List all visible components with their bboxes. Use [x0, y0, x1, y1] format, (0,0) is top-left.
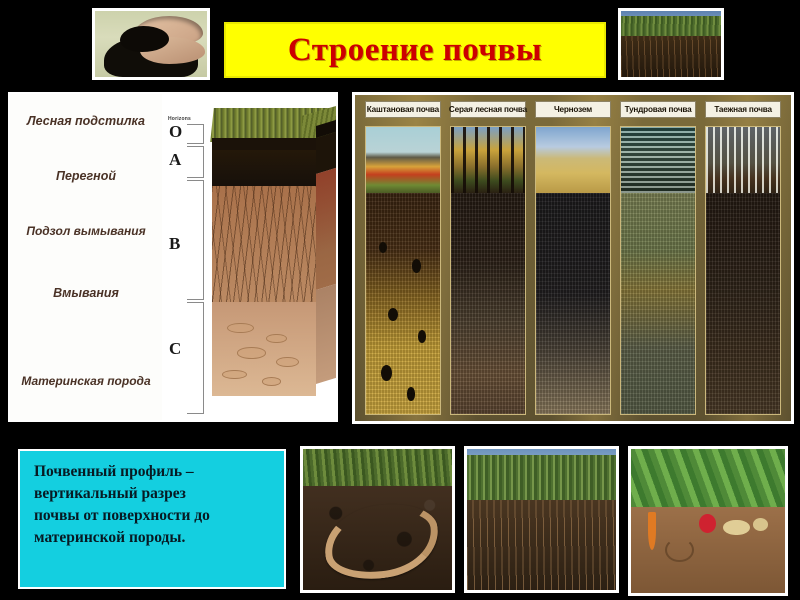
horizon-label-parent-rock: Материнская порода — [10, 374, 162, 388]
potato — [723, 520, 749, 536]
soil-type-label: Серая лесная почва — [450, 101, 526, 118]
horizon-letter-o: O — [169, 122, 182, 142]
slide-root: Строение почвы Лесная подстилка Перегной… — [0, 0, 800, 600]
pebble — [381, 365, 392, 380]
soil-layers — [621, 193, 695, 414]
soil-type-label: Тундровая почва — [620, 101, 696, 118]
soil-types-panel: Каштановая почва Серая лесная почва — [352, 92, 794, 424]
soil-block-front-face — [212, 138, 316, 396]
roots — [467, 500, 616, 590]
horizon-letter-a: A — [169, 150, 181, 170]
top-row: Строение почвы — [0, 6, 800, 82]
c-horizon-layer — [212, 302, 316, 396]
side-red-streak — [316, 166, 338, 254]
vegetable-garden-cross-section-illustration — [628, 446, 788, 596]
soil-texture — [621, 193, 695, 414]
horizon-label-humus: Перегной — [10, 169, 162, 183]
pebble — [412, 259, 422, 272]
landscape-scene-wheat-field — [536, 127, 610, 193]
bracket-b — [187, 180, 204, 300]
horizon-label-column: Лесная подстилка Перегной Подзол вымыван… — [10, 94, 163, 420]
grass-roots-soil-photo — [618, 8, 724, 80]
soil-types-row: Каштановая почва Серая лесная почва — [361, 101, 785, 415]
roots — [621, 36, 721, 77]
stone — [222, 370, 247, 380]
soil-type-label: Таежная почва — [705, 101, 781, 118]
stone — [276, 357, 299, 367]
horizon-letter-b: B — [169, 234, 180, 254]
litter-layer — [212, 138, 316, 150]
soil-profile-strip — [705, 126, 781, 415]
stone — [262, 377, 281, 386]
soil-texture — [536, 193, 610, 414]
soil-type-chernozem[interactable]: Чернозем — [535, 101, 611, 415]
carrot — [648, 512, 656, 549]
potato — [753, 518, 768, 531]
soil-layers — [536, 193, 610, 414]
horizon-label-forest-litter: Лесная подстилка — [10, 114, 162, 128]
soil-profile-diagram: Лесная подстилка Перегной Подзол вымыван… — [8, 92, 338, 422]
definition-line-1: Почвенный профиль – — [34, 461, 274, 483]
soil-profile-strip — [365, 126, 441, 415]
horizon-letter-c: C — [169, 339, 181, 359]
stone — [266, 334, 287, 344]
landscape-scene-taiga — [706, 127, 780, 193]
page-title: Строение почвы — [288, 32, 542, 69]
root-network — [212, 186, 316, 302]
landscape-scene-forest — [451, 127, 525, 193]
soil-clump — [120, 26, 169, 52]
earthworm — [665, 538, 694, 562]
pebble — [407, 387, 416, 400]
soil-block-side-face — [316, 118, 338, 384]
soil-texture — [706, 193, 780, 414]
soil-type-label: Чернозем — [535, 101, 611, 118]
foliage — [631, 449, 785, 509]
radish — [699, 514, 716, 533]
bracket-o — [187, 124, 204, 144]
soil-layers — [706, 193, 780, 414]
horizon-label-illuvial: Вмывания — [10, 286, 162, 300]
soil-profile-definition: Почвенный профиль – вертикальный разрез … — [18, 449, 286, 589]
side-c-layer — [316, 282, 338, 384]
title-plate: Строение почвы — [224, 22, 606, 78]
soil-layers — [451, 193, 525, 414]
soil-block-3d — [206, 108, 338, 408]
horizon-label-podzol-eluvial: Подзол вымывания — [10, 224, 162, 238]
humus-layer — [212, 150, 316, 186]
landscape-scene-steppe — [366, 127, 440, 193]
stone — [237, 347, 266, 358]
soil-profile-strip — [620, 126, 696, 415]
soil-profile-strip — [535, 126, 611, 415]
soil-type-taiga[interactable]: Таежная почва — [705, 101, 781, 415]
soil-layers — [366, 193, 440, 414]
grass-root-cross-section-photo — [464, 446, 619, 593]
stone — [227, 323, 254, 333]
definition-line-3: почвы от поверхности до — [34, 505, 274, 527]
definition-line-2: вертикальный разрез — [34, 483, 274, 505]
soil-type-grey-forest[interactable]: Серая лесная почва — [450, 101, 526, 415]
landscape-scene-tundra — [621, 127, 695, 193]
grass — [467, 455, 616, 503]
soil-texture — [366, 193, 440, 414]
soil-type-tundra[interactable]: Тундровая почва — [620, 101, 696, 415]
grass — [303, 449, 452, 486]
soil-texture — [451, 193, 525, 414]
earthworm-in-soil-photo — [300, 446, 455, 593]
soil-type-chestnut[interactable]: Каштановая почва — [365, 101, 441, 415]
definition-line-4: материнской породы. — [34, 527, 274, 549]
bracket-a — [187, 146, 204, 178]
hands-holding-soil-photo — [92, 8, 210, 80]
soil-profile-strip — [450, 126, 526, 415]
bracket-c — [187, 302, 204, 414]
soil-type-label: Каштановая почва — [365, 101, 441, 118]
